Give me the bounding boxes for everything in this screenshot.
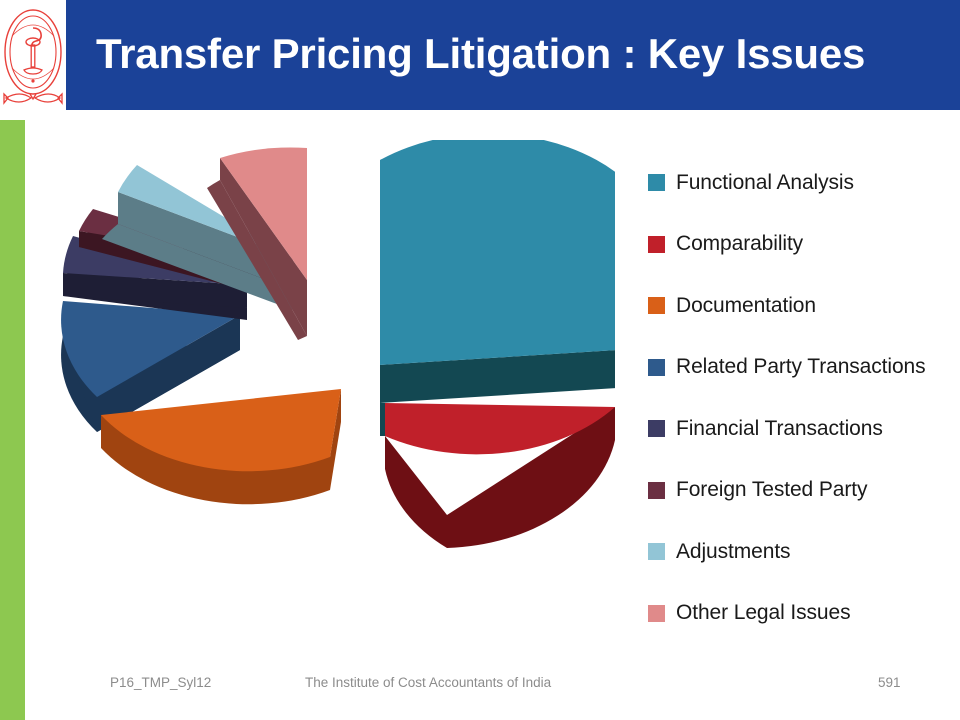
legend-swatch-icon (648, 297, 665, 314)
pie-slice-functional-analysis (380, 140, 615, 436)
legend-label: Functional Analysis (676, 171, 854, 195)
legend-item-documentation[interactable]: Documentation (648, 275, 958, 337)
slide-footer: P16_TMP_Syl12 The Institute of Cost Acco… (0, 672, 960, 698)
footer-paper-code: P16_TMP_Syl12 (110, 675, 211, 690)
legend-item-financial-transactions[interactable]: Financial Transactions (648, 398, 958, 460)
legend-item-other-legal-issues[interactable]: Other Legal Issues (648, 583, 958, 645)
legend-item-adjustments[interactable]: Adjustments (648, 521, 958, 583)
accent-sidebar (0, 120, 25, 720)
legend-swatch-icon (648, 420, 665, 437)
footer-institute: The Institute of Cost Accountants of Ind… (305, 675, 551, 690)
footer-page-number: 591 (878, 675, 901, 690)
legend-item-functional-analysis[interactable]: Functional Analysis (648, 152, 958, 214)
legend-swatch-icon (648, 605, 665, 622)
legend-label: Financial Transactions (676, 417, 883, 441)
legend-swatch-icon (648, 543, 665, 560)
legend-swatch-icon (648, 174, 665, 191)
legend-label: Documentation (676, 294, 816, 318)
legend-item-related-party-transactions[interactable]: Related Party Transactions (648, 337, 958, 399)
legend-label: Foreign Tested Party (676, 478, 867, 502)
page-title: Transfer Pricing Litigation : Key Issues (96, 24, 946, 84)
slide-canvas: Transfer Pricing Litigation : Key Issues (0, 0, 960, 720)
chart-legend: Functional Analysis Comparability Docume… (648, 152, 958, 644)
institute-logo-icon (2, 6, 64, 114)
legend-item-comparability[interactable]: Comparability (648, 214, 958, 276)
pie-chart (55, 140, 615, 560)
legend-swatch-icon (648, 482, 665, 499)
legend-label: Other Legal Issues (676, 601, 850, 625)
legend-label: Adjustments (676, 540, 790, 564)
pie-chart-svg (55, 140, 615, 560)
legend-swatch-icon (648, 236, 665, 253)
legend-swatch-icon (648, 359, 665, 376)
legend-item-foreign-tested-party[interactable]: Foreign Tested Party (648, 460, 958, 522)
pie-slice-comparability (385, 403, 615, 548)
legend-label: Related Party Transactions (676, 355, 926, 379)
legend-label: Comparability (676, 232, 803, 256)
